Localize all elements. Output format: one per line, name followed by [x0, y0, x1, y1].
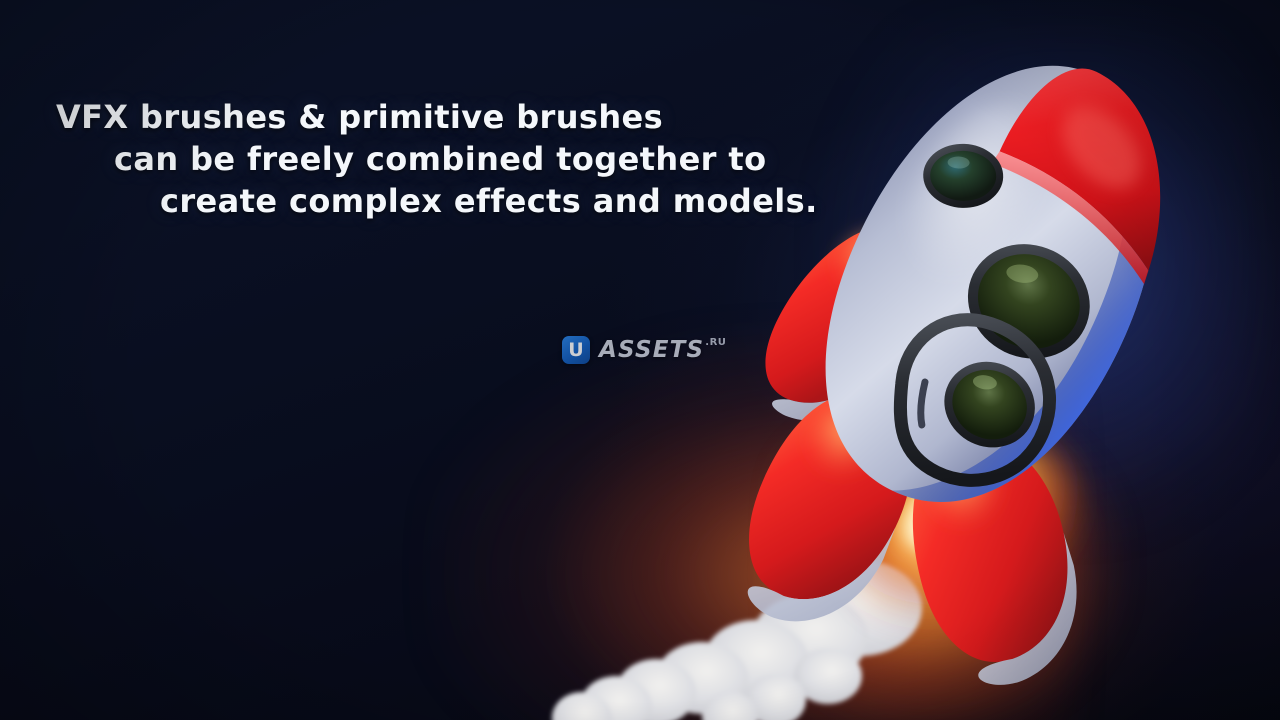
headline-block: VFX brushes & primitive brushes can be f…: [56, 96, 856, 222]
banner-canvas: VFX brushes & primitive brushes can be f…: [0, 0, 1280, 720]
headline-line-3: create complex effects and models.: [56, 180, 856, 222]
watermark-logo: U ASSETS .RU: [562, 336, 726, 364]
watermark-badge-icon: U: [562, 336, 590, 364]
headline-line-2: can be freely combined together to: [56, 138, 856, 180]
watermark-badge-letter: U: [568, 341, 583, 360]
headline-line-1: VFX brushes & primitive brushes: [56, 96, 856, 138]
watermark-wordmark: ASSETS: [599, 337, 704, 363]
watermark-tld: .RU: [705, 337, 726, 348]
